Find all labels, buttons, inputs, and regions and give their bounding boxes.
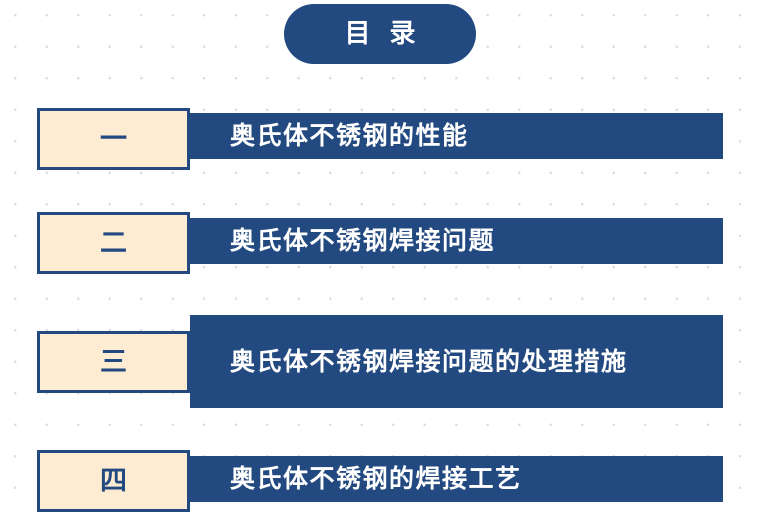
toc-item-label-3: 奥氏体不锈钢焊接问题的处理措施: [190, 346, 644, 378]
page-title: 目 录: [339, 21, 420, 47]
toc-item-number-box-1[interactable]: 一: [37, 108, 190, 170]
toc-item-label-1: 奥氏体不锈钢的性能: [190, 120, 485, 152]
toc-item-number-1: 一: [100, 126, 127, 153]
slide-title-pill: 目 录: [284, 4, 476, 64]
toc-item-label-2: 奥氏体不锈钢焊接问题: [190, 225, 511, 257]
toc-item-bar-1[interactable]: 奥氏体不锈钢的性能: [190, 113, 723, 159]
toc-item-number-4: 四: [100, 468, 127, 495]
toc-item-number-box-4[interactable]: 四: [37, 450, 190, 512]
toc-item-number-box-2[interactable]: 二: [37, 212, 190, 274]
toc-item-bar-2[interactable]: 奥氏体不锈钢焊接问题: [190, 218, 723, 264]
toc-item-label-4: 奥氏体不锈钢的焊接工艺: [190, 463, 538, 495]
toc-item-number-box-3[interactable]: 三: [37, 331, 190, 393]
slide-canvas: 目 录 奥氏体不锈钢的性能 一 奥氏体不锈钢焊接问题 二 奥氏体不锈钢焊接问题的…: [0, 0, 760, 514]
toc-item-bar-4[interactable]: 奥氏体不锈钢的焊接工艺: [190, 456, 723, 502]
toc-item-number-2: 二: [100, 230, 127, 257]
toc-item-number-3: 三: [100, 349, 127, 376]
toc-item-bar-3[interactable]: 奥氏体不锈钢焊接问题的处理措施: [190, 315, 723, 408]
